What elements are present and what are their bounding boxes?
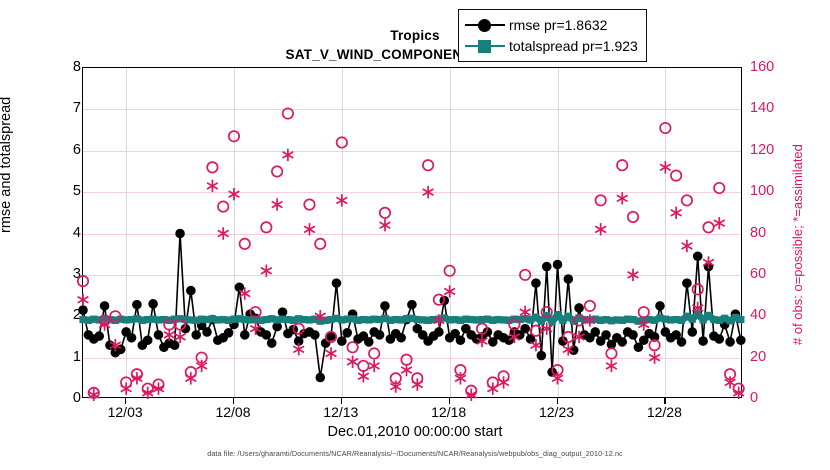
marker-asterisk xyxy=(380,219,391,231)
marker-circle-filled xyxy=(315,373,325,383)
marker-circle-filled xyxy=(375,330,385,340)
marker-square-filled xyxy=(549,318,556,325)
x-tick-label: 12/28 xyxy=(647,404,682,420)
marker-circle-filled xyxy=(456,335,466,345)
marker-circle-open xyxy=(606,348,616,358)
marker-asterisk xyxy=(595,223,606,235)
marker-circle-filled xyxy=(78,305,88,315)
marker-asterisk xyxy=(649,351,660,363)
marker-circle-filled xyxy=(342,328,352,338)
marker-circle-open xyxy=(423,160,433,170)
marker-asterisk xyxy=(628,269,639,281)
marker-asterisk xyxy=(304,223,315,235)
marker-asterisk xyxy=(272,198,283,210)
y-tick-label-right: 160 xyxy=(750,59,774,75)
marker-circle-filled xyxy=(94,331,104,341)
marker-asterisk xyxy=(207,180,218,192)
marker-circle-filled xyxy=(262,330,272,340)
marker-circle-open xyxy=(520,270,530,280)
legend-marker-circle-filled xyxy=(465,18,505,32)
marker-circle-filled xyxy=(682,278,692,288)
x-axis-label: Dec.01,2010 00:00:00 start xyxy=(0,424,830,440)
marker-circle-open xyxy=(682,195,692,205)
marker-circle-open xyxy=(218,201,228,211)
marker-circle-open xyxy=(229,131,239,141)
marker-asterisk xyxy=(283,149,294,161)
marker-circle-filled xyxy=(407,300,417,310)
marker-circle-open xyxy=(207,162,217,172)
legend-swatch xyxy=(478,40,491,53)
marker-asterisk xyxy=(498,376,509,388)
y-tick-label-right: 100 xyxy=(750,183,774,199)
marker-circle-filled xyxy=(736,335,746,345)
x-tick-label: 12/18 xyxy=(431,404,466,420)
marker-circle-filled xyxy=(154,330,164,340)
marker-circle-filled xyxy=(655,301,665,311)
marker-circle-open xyxy=(369,348,379,358)
y-tick-label-right: 80 xyxy=(750,225,766,241)
marker-circle-filled xyxy=(132,300,142,310)
marker-circle-open xyxy=(315,239,325,249)
marker-asterisk xyxy=(682,240,693,252)
figure-canvas: Tropics SAT_V_WIND_COMPONENT @ 999 hPa r… xyxy=(0,0,830,470)
marker-circle-filled xyxy=(337,336,347,346)
marker-circle-filled xyxy=(332,278,342,288)
marker-circle-filled xyxy=(590,327,600,337)
marker-asterisk xyxy=(261,265,272,277)
marker-circle-filled xyxy=(202,327,212,337)
marker-asterisk xyxy=(412,378,423,390)
y-tick-label-right: 140 xyxy=(750,100,774,116)
marker-square-filled xyxy=(737,316,744,323)
marker-circle-filled xyxy=(714,334,724,344)
marker-circle-open xyxy=(272,166,282,176)
marker-circle-open xyxy=(347,342,357,352)
marker-circle-filled xyxy=(537,351,547,361)
x-tick-label: 12/03 xyxy=(108,404,143,420)
marker-circle-filled xyxy=(628,330,638,340)
marker-asterisk xyxy=(336,194,347,206)
marker-circle-filled xyxy=(127,333,137,343)
marker-circle-open xyxy=(660,123,670,133)
marker-circle-filled xyxy=(574,303,584,313)
marker-asterisk xyxy=(444,285,455,297)
marker-circle-filled xyxy=(191,330,201,340)
marker-asterisk xyxy=(229,188,240,200)
marker-circle-open xyxy=(585,301,595,311)
data-file-caption: data file: /Users/gharamti/Documents/NCA… xyxy=(0,449,830,458)
marker-circle-filled xyxy=(148,299,158,309)
marker-circle-filled xyxy=(563,274,573,284)
legend-item-0: rmse pr=1.8632 xyxy=(465,14,638,35)
marker-asterisk xyxy=(358,370,369,382)
marker-asterisk xyxy=(218,227,229,239)
plot-area xyxy=(82,67,742,398)
y-tick-label-right: 0 xyxy=(750,390,758,406)
marker-asterisk xyxy=(369,360,380,372)
x-tick-label: 12/08 xyxy=(215,404,250,420)
marker-asterisk xyxy=(78,294,89,306)
marker-circle-filled xyxy=(278,307,288,317)
marker-circle-filled xyxy=(170,340,180,350)
marker-circle-open xyxy=(595,195,605,205)
marker-asterisk xyxy=(660,161,671,173)
legend-item-1: totalspread pr=1.923 xyxy=(465,35,638,56)
marker-circle-open xyxy=(261,222,271,232)
marker-circle-filled xyxy=(677,337,687,347)
marker-circle-open xyxy=(671,170,681,180)
x-tick-label: 12/23 xyxy=(539,404,574,420)
y-axis-label-left: rmse and totalspread xyxy=(0,97,14,233)
chart-title: Tropics SAT_V_WIND_COMPONENT @ 999 hPa xyxy=(0,26,830,64)
marker-circle-filled xyxy=(380,301,390,311)
marker-circle-open xyxy=(703,222,713,232)
marker-asterisk xyxy=(326,347,337,359)
marker-circle-open xyxy=(304,199,314,209)
title-line-2: SAT_V_WIND_COMPONENT @ 999 hPa xyxy=(0,45,830,64)
marker-asterisk xyxy=(185,372,196,384)
marker-asterisk xyxy=(617,192,628,204)
marker-circle-filled xyxy=(175,229,185,239)
marker-circle-filled xyxy=(698,336,708,346)
marker-asterisk xyxy=(164,329,175,341)
title-line-1: Tropics xyxy=(0,26,830,45)
chart-legend: rmse pr=1.8632totalspread pr=1.923 xyxy=(458,9,647,62)
marker-asterisk xyxy=(714,217,725,229)
marker-circle-open xyxy=(693,284,703,294)
y-tick-label-right: 20 xyxy=(750,349,766,365)
legend-label: totalspread pr=1.923 xyxy=(509,38,638,54)
marker-asterisk xyxy=(347,356,358,368)
marker-circle-open xyxy=(337,137,347,147)
legend-swatch xyxy=(478,19,491,32)
y-tick-label-right: 60 xyxy=(750,266,766,282)
marker-circle-open xyxy=(358,361,368,371)
marker-asterisk xyxy=(671,207,682,219)
marker-circle-filled xyxy=(396,333,406,343)
y-tick-label-right: 40 xyxy=(750,307,766,323)
y-tick-label-right: 120 xyxy=(750,142,774,158)
marker-circle-filled xyxy=(310,330,320,340)
y-axis-label-right: # of obs: o=possible; *=assimilated xyxy=(790,144,805,345)
marker-circle-open xyxy=(444,266,454,276)
marker-circle-open xyxy=(283,108,293,118)
marker-circle-filled xyxy=(725,337,735,347)
marker-circle-filled xyxy=(601,330,611,340)
marker-circle-filled xyxy=(542,262,552,272)
marker-circle-open xyxy=(401,354,411,364)
marker-circle-filled xyxy=(143,335,153,345)
marker-circle-filled xyxy=(186,286,196,296)
marker-circle-open xyxy=(714,183,724,193)
marker-circle-filled xyxy=(267,338,277,348)
marker-circle-filled xyxy=(520,324,530,334)
data-series-layer xyxy=(83,68,743,399)
marker-asterisk xyxy=(606,360,617,372)
marker-circle-open xyxy=(380,208,390,218)
marker-circle-filled xyxy=(693,251,703,261)
marker-circle-filled xyxy=(553,260,563,270)
marker-circle-open xyxy=(639,307,649,317)
marker-circle-filled xyxy=(617,337,627,347)
marker-circle-filled xyxy=(504,335,514,345)
marker-circle-open xyxy=(240,239,250,249)
marker-asterisk xyxy=(293,343,304,355)
marker-circle-filled xyxy=(240,330,250,340)
marker-circle-filled xyxy=(434,327,444,337)
legend-marker-square-filled xyxy=(465,39,505,53)
marker-circle-filled xyxy=(688,327,698,337)
marker-asterisk xyxy=(487,382,498,394)
marker-circle-filled xyxy=(224,328,234,338)
marker-circle-open xyxy=(617,160,627,170)
marker-asterisk xyxy=(121,382,132,394)
marker-circle-filled xyxy=(100,301,110,311)
marker-asterisk xyxy=(423,186,434,198)
series-circle-open xyxy=(78,108,744,398)
marker-circle-filled xyxy=(364,337,374,347)
legend-label: rmse pr=1.8632 xyxy=(509,17,607,33)
marker-asterisk xyxy=(401,364,412,376)
marker-circle-open xyxy=(628,212,638,222)
marker-circle-filled xyxy=(531,278,541,288)
x-tick-label: 12/13 xyxy=(323,404,358,420)
